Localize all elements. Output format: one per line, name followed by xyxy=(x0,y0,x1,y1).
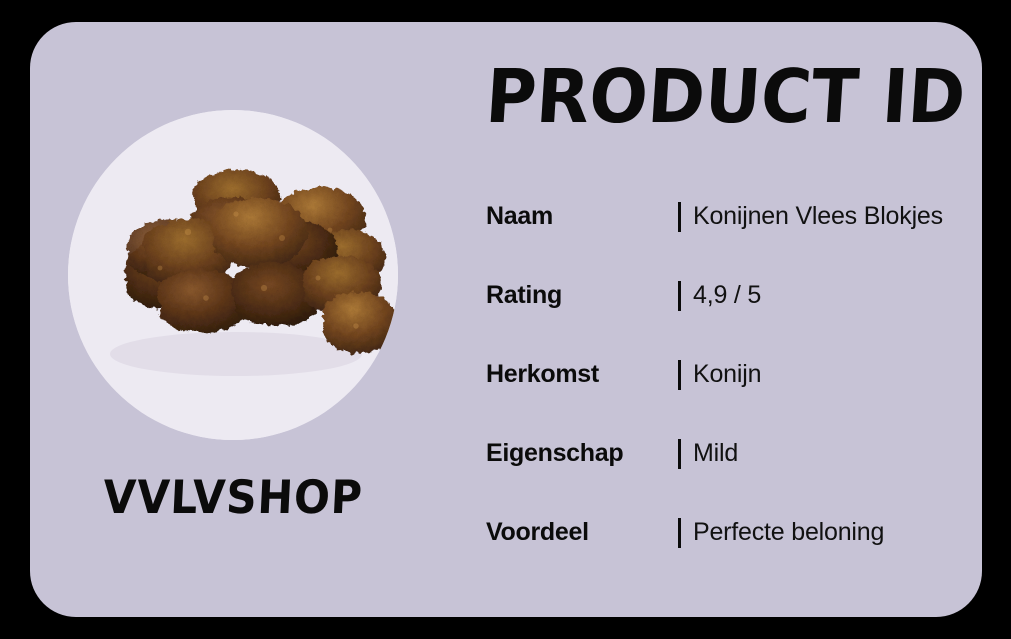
product-details-panel: PRODUCT ID Naam Konijnen Vlees Blokjes R… xyxy=(456,22,982,617)
pipe-separator-icon xyxy=(678,439,681,469)
spec-label: Voordeel xyxy=(486,518,678,547)
spec-row-rating: Rating 4,9 / 5 xyxy=(486,256,982,335)
spec-value: Perfecte beloning xyxy=(693,518,982,547)
meat-cubes-photo xyxy=(68,110,398,440)
spec-label: Rating xyxy=(486,281,678,310)
pipe-separator-icon xyxy=(678,202,681,232)
spec-label: Naam xyxy=(486,202,678,231)
brand-wordmark: VVLVSHOP xyxy=(45,470,421,524)
spec-value: Konijn xyxy=(693,360,982,389)
spec-row-eigenschap: Eigenschap Mild xyxy=(486,414,982,493)
spec-value: Konijnen Vlees Blokjes xyxy=(693,202,982,231)
spec-row-naam: Naam Konijnen Vlees Blokjes xyxy=(486,177,982,256)
spec-label: Herkomst xyxy=(486,360,678,389)
spec-row-herkomst: Herkomst Konijn xyxy=(486,335,982,414)
spec-list: Naam Konijnen Vlees Blokjes Rating 4,9 /… xyxy=(486,177,982,572)
spec-value: 4,9 / 5 xyxy=(693,281,982,310)
spec-label: Eigenschap xyxy=(486,439,678,468)
pipe-separator-icon xyxy=(678,281,681,311)
product-card: VVLVSHOP PRODUCT ID Naam Konijnen Vlees … xyxy=(30,22,982,617)
product-id-card-canvas: VVLVSHOP PRODUCT ID Naam Konijnen Vlees … xyxy=(0,0,1011,639)
spec-value: Mild xyxy=(693,439,982,468)
product-image-circle xyxy=(68,110,398,440)
spec-row-voordeel: Voordeel Perfecte beloning xyxy=(486,493,982,572)
page-title: PRODUCT ID xyxy=(484,60,968,134)
pipe-separator-icon xyxy=(678,518,681,548)
pipe-separator-icon xyxy=(678,360,681,390)
